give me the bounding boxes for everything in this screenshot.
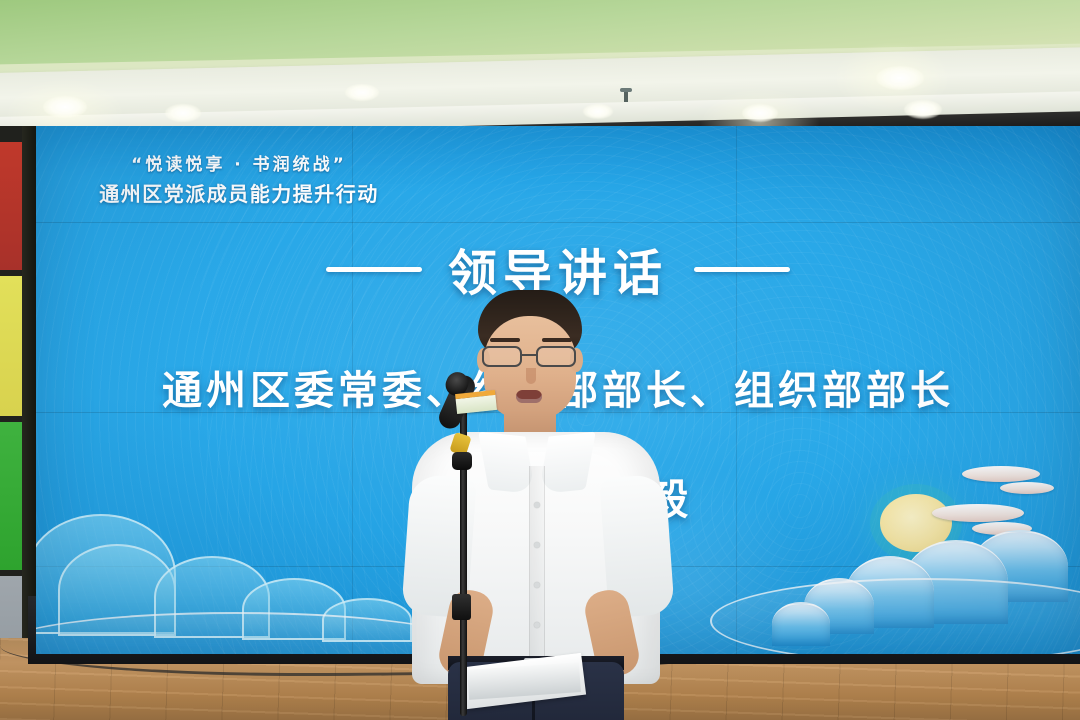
glasses-lens-right [536,346,576,367]
downlight-7-icon [904,100,942,119]
shirt-button [534,502,540,508]
downlight-1-icon [43,96,87,118]
screen-header-line2: 通州区党派成员能力提升行动 [74,178,404,207]
glasses-lens-left [482,346,522,367]
nose [526,368,536,384]
shirt-button [534,622,540,628]
shirt-placket [529,466,545,678]
downlight-5-icon [742,104,778,122]
wall-panel-red [0,142,22,270]
microphone-flag-badge [455,390,497,414]
microphone-joint [452,452,472,470]
sprinkler-head-icon [620,88,632,102]
downlight-6-icon [876,66,924,90]
downlight-2-icon [165,104,201,122]
eyebrow-right [542,338,572,342]
mouth [516,390,542,403]
screen-header: “悦读悦享 · 书润统战” 通州区党派成员能力提升行动 [74,150,404,207]
title-dash-right [694,267,790,272]
wall-panel-yellow [0,276,22,416]
glasses-bridge [522,354,538,356]
photo-scene: “悦读悦享 · 书润统战” 通州区党派成员能力提升行动 领导讲话 通州区委常委、… [0,0,1080,720]
shirt-button [534,542,540,548]
wall-panel-green [0,422,22,570]
downlight-3-icon [345,84,379,101]
eyebrow-left [490,338,520,342]
speaker-person [404,290,672,720]
downlight-4-icon [583,104,613,119]
title-dash-left [326,267,422,272]
glasses-icon [480,346,580,368]
mountain-icon [772,602,830,646]
screen-header-line1: “悦读悦享 · 书润统战” [74,150,404,175]
shirt-button [534,582,540,588]
microphone-stand-clamp [452,594,471,620]
river-band [710,578,1080,654]
led-panel-seam [36,222,1080,223]
